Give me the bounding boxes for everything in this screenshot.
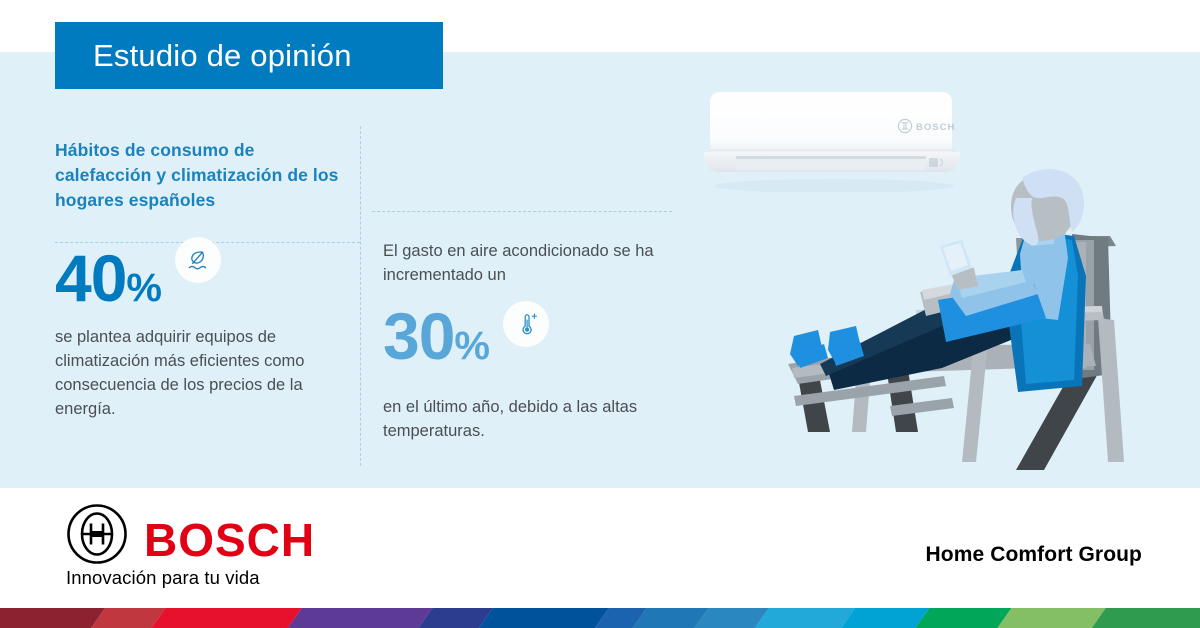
right-column: El gasto en aire acondicionado se ha inc… [383,239,683,443]
supergraphic-segment [479,608,609,628]
leaf-icon [175,237,221,283]
bosch-anchor-icon [66,503,128,565]
right-column-lead: El gasto en aire acondicionado se ha inc… [383,239,683,287]
stat-30-value: 30% [383,303,489,369]
right-column-rule [372,211,672,212]
left-column: Hábitos de consumo de calefacción y clim… [55,138,355,421]
supergraphic-segment [755,608,855,628]
supergraphic-segment [1092,608,1200,628]
thermometer-icon [503,301,549,347]
person-relaxing-illustration [780,168,1180,473]
stat-30-unit: % [454,326,489,366]
stat-40-unit: % [126,268,161,308]
bosch-claim: Innovación para tu vida [66,567,260,589]
bosch-wordmark: BOSCH [144,517,315,563]
supergraphic-segment [151,608,301,628]
column-divider [360,126,361,466]
section-subtitle: Hábitos de consumo de calefacción y clim… [55,138,355,213]
stat-30-number: 30 [383,303,454,369]
footer: BOSCH Innovación para tu vida Home Comfo… [0,488,1200,600]
supergraphic-segment [288,608,433,628]
supergraphic-segment [0,608,105,628]
page-title: Estudio de opinión [55,38,352,74]
title-banner: Estudio de opinión [55,22,443,89]
stat-30-percent: 30% [383,303,683,369]
division-name: Home Comfort Group [926,543,1142,567]
stat-40-value: 40% [55,245,161,311]
supergraphic-segment [841,608,929,628]
svg-text:BOSCH: BOSCH [916,122,955,133]
bosch-supergraphic-bar [0,608,1200,628]
stat-40-number: 40 [55,245,126,311]
supergraphic-segment [997,608,1105,628]
stat-40-percent: 40% [55,245,355,311]
right-column-copy: en el último año, debido a las altas tem… [383,395,683,443]
left-column-copy: se plantea adquirir equipos de climatiza… [55,325,355,421]
supergraphic-segment [915,608,1011,628]
bosch-logo-lockup: BOSCH [66,503,315,565]
